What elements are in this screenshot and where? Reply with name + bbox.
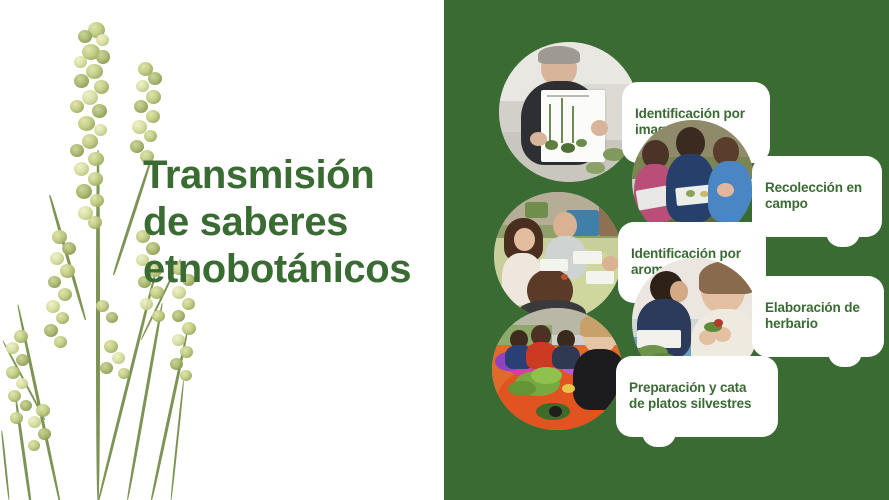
label-recoleccion-en-campo: Recolección en campo <box>752 156 882 237</box>
photo-identificacion-por-imagen <box>499 42 639 182</box>
bubble-tail <box>828 352 862 367</box>
slide-canvas: Transmisión de saberes etnobotánicos <box>0 0 889 500</box>
bubble-tail <box>642 432 676 447</box>
label-text: Preparación y cata de platos silvestres <box>629 380 751 412</box>
photo-identificacion-por-aroma <box>494 192 622 320</box>
right-panel: Identificación por imagen <box>444 0 889 500</box>
label-preparacion-y-cata: Preparación y cata de platos silvestres <box>616 356 778 437</box>
label-text: Recolección en campo <box>765 180 862 212</box>
left-panel: Transmisión de saberes etnobotánicos <box>0 0 444 500</box>
photo-preparacion-y-cata <box>492 308 622 430</box>
page-title: Transmisión de saberes etnobotánicos <box>143 152 443 293</box>
label-elaboracion-de-herbario: Elaboración de herbario <box>752 276 884 357</box>
label-text: Elaboración de herbario <box>765 300 860 332</box>
bubble-tail <box>826 232 860 247</box>
